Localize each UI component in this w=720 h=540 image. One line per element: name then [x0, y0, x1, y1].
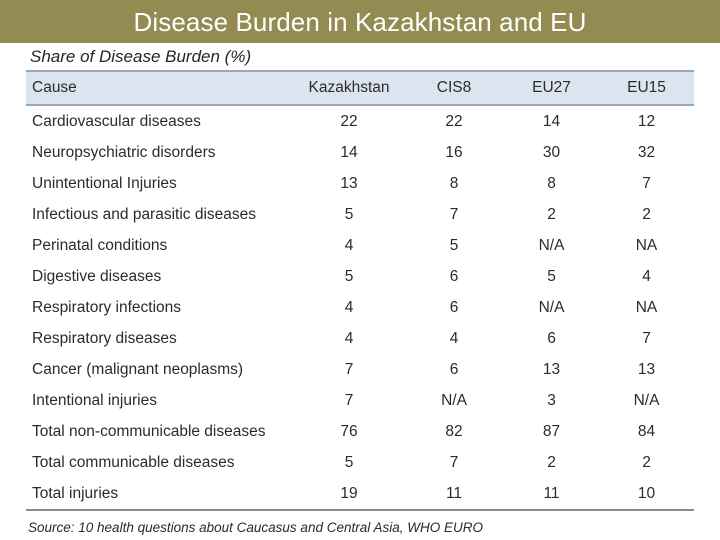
column-header-cis8: CIS8	[404, 71, 504, 105]
cell-kazakhstan: 5	[294, 447, 404, 478]
cell-cause: Digestive diseases	[26, 261, 294, 292]
cell-eu15: 7	[599, 168, 694, 199]
source-note: Source: 10 health questions about Caucas…	[28, 520, 483, 535]
table-row: Infectious and parasitic diseases 5 7 2 …	[26, 199, 694, 230]
table-header-row: Cause Kazakhstan CIS8 EU27 EU15	[26, 71, 694, 105]
cell-cause: Respiratory infections	[26, 292, 294, 323]
cell-eu27: 2	[504, 199, 599, 230]
cell-eu27: 13	[504, 354, 599, 385]
table-row: Neuropsychiatric disorders 14 16 30 32	[26, 137, 694, 168]
table-row: Unintentional Injuries 13 8 8 7	[26, 168, 694, 199]
cell-eu15: NA	[599, 230, 694, 261]
cell-cause: Perinatal conditions	[26, 230, 294, 261]
table-subtitle: Share of Disease Burden (%)	[30, 47, 251, 67]
cell-cis8: 4	[404, 323, 504, 354]
table-row: Cardiovascular diseases 22 22 14 12	[26, 105, 694, 137]
cell-eu15: 32	[599, 137, 694, 168]
cell-eu15: 4	[599, 261, 694, 292]
cell-eu15: N/A	[599, 385, 694, 416]
cell-cause: Total non-communicable diseases	[26, 416, 294, 447]
cell-kazakhstan: 4	[294, 230, 404, 261]
cell-kazakhstan: 5	[294, 261, 404, 292]
table-row: Total communicable diseases 5 7 2 2	[26, 447, 694, 478]
cell-cause: Neuropsychiatric disorders	[26, 137, 294, 168]
cell-cis8: 82	[404, 416, 504, 447]
table-row: Respiratory diseases 4 4 6 7	[26, 323, 694, 354]
table-row: Total injuries 19 11 11 10	[26, 478, 694, 510]
cell-cis8: 7	[404, 199, 504, 230]
cell-cis8: 22	[404, 105, 504, 137]
cell-eu15: 2	[599, 447, 694, 478]
page-title: Disease Burden in Kazakhstan and EU	[134, 9, 587, 35]
cell-cause: Total injuries	[26, 478, 294, 510]
cell-cis8: 11	[404, 478, 504, 510]
disease-burden-table: Cause Kazakhstan CIS8 EU27 EU15 Cardiova…	[26, 70, 694, 511]
cell-eu15: 10	[599, 478, 694, 510]
cell-eu15: NA	[599, 292, 694, 323]
cell-cis8: 16	[404, 137, 504, 168]
cell-eu15: 12	[599, 105, 694, 137]
table-row: Total non-communicable diseases 76 82 87…	[26, 416, 694, 447]
cell-cis8: 6	[404, 292, 504, 323]
table-row: Intentional injuries 7 N/A 3 N/A	[26, 385, 694, 416]
cell-cause: Cancer (malignant neoplasms)	[26, 354, 294, 385]
cell-cause: Total communicable diseases	[26, 447, 294, 478]
column-header-cause: Cause	[26, 71, 294, 105]
table-row: Respiratory infections 4 6 N/A NA	[26, 292, 694, 323]
cell-kazakhstan: 7	[294, 385, 404, 416]
cell-kazakhstan: 13	[294, 168, 404, 199]
table-header: Cause Kazakhstan CIS8 EU27 EU15	[26, 71, 694, 105]
cell-cis8: N/A	[404, 385, 504, 416]
cell-eu27: 2	[504, 447, 599, 478]
cell-cis8: 7	[404, 447, 504, 478]
cell-kazakhstan: 22	[294, 105, 404, 137]
cell-eu27: 30	[504, 137, 599, 168]
cell-kazakhstan: 76	[294, 416, 404, 447]
cell-cis8: 8	[404, 168, 504, 199]
cell-cause: Cardiovascular diseases	[26, 105, 294, 137]
cell-kazakhstan: 19	[294, 478, 404, 510]
cell-kazakhstan: 7	[294, 354, 404, 385]
cell-cause: Respiratory diseases	[26, 323, 294, 354]
cell-eu27: 6	[504, 323, 599, 354]
slide: Disease Burden in Kazakhstan and EU Shar…	[0, 0, 720, 540]
cell-eu27: 11	[504, 478, 599, 510]
title-bar: Disease Burden in Kazakhstan and EU	[0, 0, 720, 43]
cell-eu27: 8	[504, 168, 599, 199]
cell-eu27: 3	[504, 385, 599, 416]
cell-kazakhstan: 5	[294, 199, 404, 230]
table-row: Cancer (malignant neoplasms) 7 6 13 13	[26, 354, 694, 385]
column-header-kazakhstan: Kazakhstan	[294, 71, 404, 105]
disease-burden-table-wrapper: Cause Kazakhstan CIS8 EU27 EU15 Cardiova…	[26, 70, 694, 511]
cell-eu27: 5	[504, 261, 599, 292]
cell-kazakhstan: 14	[294, 137, 404, 168]
cell-cause: Infectious and parasitic diseases	[26, 199, 294, 230]
cell-cause: Unintentional Injuries	[26, 168, 294, 199]
cell-cis8: 6	[404, 354, 504, 385]
cell-cause: Intentional injuries	[26, 385, 294, 416]
cell-eu15: 7	[599, 323, 694, 354]
table-row: Digestive diseases 5 6 5 4	[26, 261, 694, 292]
cell-cis8: 5	[404, 230, 504, 261]
cell-eu27: N/A	[504, 292, 599, 323]
cell-eu27: N/A	[504, 230, 599, 261]
cell-eu27: 14	[504, 105, 599, 137]
cell-kazakhstan: 4	[294, 323, 404, 354]
column-header-eu15: EU15	[599, 71, 694, 105]
cell-eu27: 87	[504, 416, 599, 447]
cell-eu15: 2	[599, 199, 694, 230]
column-header-eu27: EU27	[504, 71, 599, 105]
table-body: Cardiovascular diseases 22 22 14 12 Neur…	[26, 105, 694, 510]
table-row: Perinatal conditions 4 5 N/A NA	[26, 230, 694, 261]
cell-kazakhstan: 4	[294, 292, 404, 323]
cell-eu15: 13	[599, 354, 694, 385]
cell-cis8: 6	[404, 261, 504, 292]
cell-eu15: 84	[599, 416, 694, 447]
